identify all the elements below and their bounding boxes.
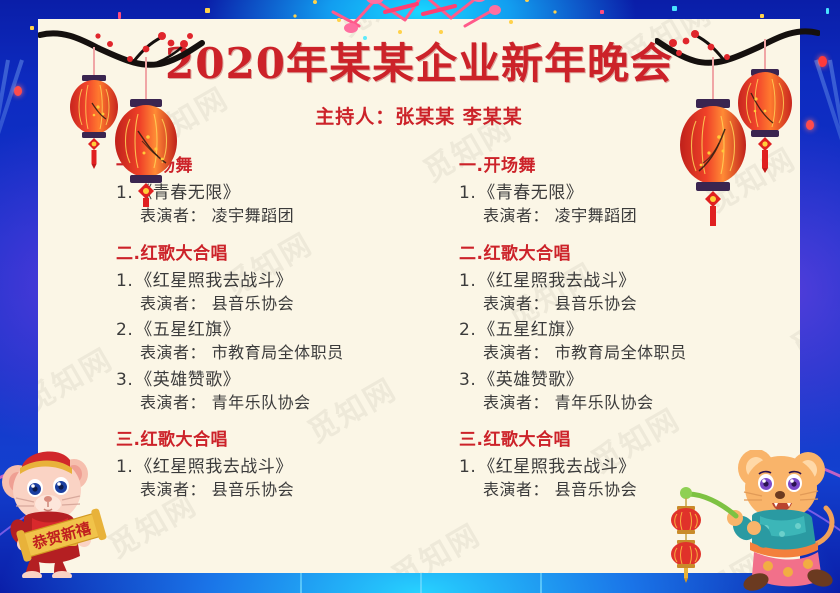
- program-section: 二.红歌大合唱 1.《红星照我去战斗》 表演者： 县音乐协会 2.《五星红旗》 …: [116, 239, 419, 414]
- program-columns: 一.开场舞 1.《青春无限》 表演者： 凌宇舞蹈团 二.红歌大合唱 1.《红星照…: [38, 151, 800, 513]
- program-item-number: 1.: [116, 183, 133, 203]
- program-item-name: 《五星红旗》: [478, 320, 583, 340]
- program-item-title: 1.《青春无限》: [459, 182, 800, 205]
- program-item-number: 3.: [116, 370, 133, 390]
- program-item: 2.《五星红旗》 表演者： 市教育局全体职员: [116, 319, 419, 364]
- mini-lantern-icon: [806, 120, 814, 130]
- confetti-dot: [30, 26, 34, 30]
- confetti-dot: [118, 12, 121, 19]
- program-section: 一.开场舞 1.《青春无限》 表演者： 凌宇舞蹈团: [116, 151, 419, 227]
- section-heading: 三.红歌大合唱: [459, 425, 800, 450]
- program-section: 三.红歌大合唱 1.《红星照我去战斗》 表演者： 县音乐协会: [116, 425, 419, 501]
- page-title: 2020年某某企业新年晚会: [38, 40, 800, 88]
- program-item-performer: 表演者： 县音乐协会: [116, 479, 419, 501]
- program-item-performer: 表演者： 凌宇舞蹈团: [116, 205, 419, 227]
- program-item-title: 1.《红星照我去战斗》: [459, 456, 800, 479]
- program-item-performer: 表演者： 县音乐协会: [116, 293, 419, 315]
- program-item-name: 《青春无限》: [478, 183, 583, 203]
- program-item: 1.《青春无限》 表演者： 凌宇舞蹈团: [116, 182, 419, 227]
- program-item-number: 1.: [459, 457, 476, 477]
- program-section: 二.红歌大合唱 1.《红星照我去战斗》 表演者： 县音乐协会 2.《五星红旗》 …: [459, 239, 800, 414]
- program-item-name: 《青春无限》: [135, 183, 240, 203]
- section-heading: 二.红歌大合唱: [116, 239, 419, 264]
- program-item-title: 1.《红星照我去战斗》: [459, 270, 800, 293]
- program-item: 1.《红星照我去战斗》 表演者： 县音乐协会: [459, 456, 800, 501]
- program-item: 3.《英雄赞歌》 表演者： 青年乐队协会: [116, 369, 419, 414]
- program-column-left: 一.开场舞 1.《青春无限》 表演者： 凌宇舞蹈团 二.红歌大合唱 1.《红星照…: [38, 151, 419, 513]
- program-item-name: 《英雄赞歌》: [478, 370, 583, 390]
- program-item-performer: 表演者： 县音乐协会: [459, 479, 800, 501]
- program-item-number: 1.: [116, 271, 133, 291]
- program-item-name: 《英雄赞歌》: [135, 370, 240, 390]
- program-item: 1.《青春无限》 表演者： 凌宇舞蹈团: [459, 182, 800, 227]
- mini-lantern-icon: [14, 86, 22, 96]
- program-item-title: 1.《红星照我去战斗》: [116, 270, 419, 293]
- confetti-dot: [672, 6, 677, 11]
- program-item-performer: 表演者： 青年乐队协会: [116, 392, 419, 414]
- program-item-name: 《红星照我去战斗》: [135, 271, 293, 291]
- program-item-number: 2.: [459, 320, 476, 340]
- program-item-title: 3.《英雄赞歌》: [116, 369, 419, 392]
- program-item: 2.《五星红旗》 表演者： 市教育局全体职员: [459, 319, 800, 364]
- program-item: 1.《红星照我去战斗》 表演者： 县音乐协会: [116, 456, 419, 501]
- program-item-title: 1.《红星照我去战斗》: [116, 456, 419, 479]
- program-item-number: 1.: [459, 271, 476, 291]
- program-item-number: 3.: [459, 370, 476, 390]
- program-item: 3.《英雄赞歌》 表演者： 青年乐队协会: [459, 369, 800, 414]
- program-item-number: 1.: [116, 457, 133, 477]
- program-panel: 觅知网 觅知网 觅知网 觅知网 觅知网 觅知网 觅知网 觅知网 觅知网 觅知网 …: [38, 19, 800, 573]
- program-item-number: 2.: [116, 320, 133, 340]
- program-item-performer: 表演者： 县音乐协会: [459, 293, 800, 315]
- program-item-performer: 表演者： 市教育局全体职员: [116, 342, 419, 364]
- program-item-performer: 表演者： 凌宇舞蹈团: [459, 205, 800, 227]
- section-heading: 二.红歌大合唱: [459, 239, 800, 264]
- host-subtitle: 主持人：张某某 李某某: [38, 102, 800, 129]
- confetti-dot: [760, 14, 764, 18]
- program-item-name: 《红星照我去战斗》: [478, 457, 636, 477]
- program-item-title: 1.《青春无限》: [116, 182, 419, 205]
- program-item-performer: 表演者： 青年乐队协会: [459, 392, 800, 414]
- confetti-dot: [600, 10, 604, 14]
- program-item: 1.《红星照我去战斗》 表演者： 县音乐协会: [116, 270, 419, 315]
- program-item-title: 2.《五星红旗》: [116, 319, 419, 342]
- section-heading: 一.开场舞: [459, 151, 800, 176]
- program-item-name: 《红星照我去战斗》: [135, 457, 293, 477]
- poster-header: 2020年某某企业新年晚会 主持人：张某某 李某某: [38, 19, 800, 129]
- program-item-name: 《红星照我去战斗》: [478, 271, 636, 291]
- program-item-name: 《五星红旗》: [135, 320, 240, 340]
- program-item-number: 1.: [459, 183, 476, 203]
- confetti-dot: [800, 30, 804, 34]
- watermark-text: 觅知网: [93, 539, 377, 573]
- confetti-dot: [826, 8, 829, 14]
- program-section: 三.红歌大合唱 1.《红星照我去战斗》 表演者： 县音乐协会: [459, 425, 800, 501]
- section-heading: 三.红歌大合唱: [116, 425, 419, 450]
- section-heading: 一.开场舞: [116, 151, 419, 176]
- program-item-title: 2.《五星红旗》: [459, 319, 800, 342]
- program-section: 一.开场舞 1.《青春无限》 表演者： 凌宇舞蹈团: [459, 151, 800, 227]
- watermark-text: 觅知网: [377, 569, 661, 573]
- confetti-dot: [205, 8, 210, 13]
- program-column-right: 一.开场舞 1.《青春无限》 表演者： 凌宇舞蹈团 二.红歌大合唱 1.《红星照…: [419, 151, 800, 513]
- program-item-performer: 表演者： 市教育局全体职员: [459, 342, 800, 364]
- program-item: 1.《红星照我去战斗》 表演者： 县音乐协会: [459, 270, 800, 315]
- program-item-title: 3.《英雄赞歌》: [459, 369, 800, 392]
